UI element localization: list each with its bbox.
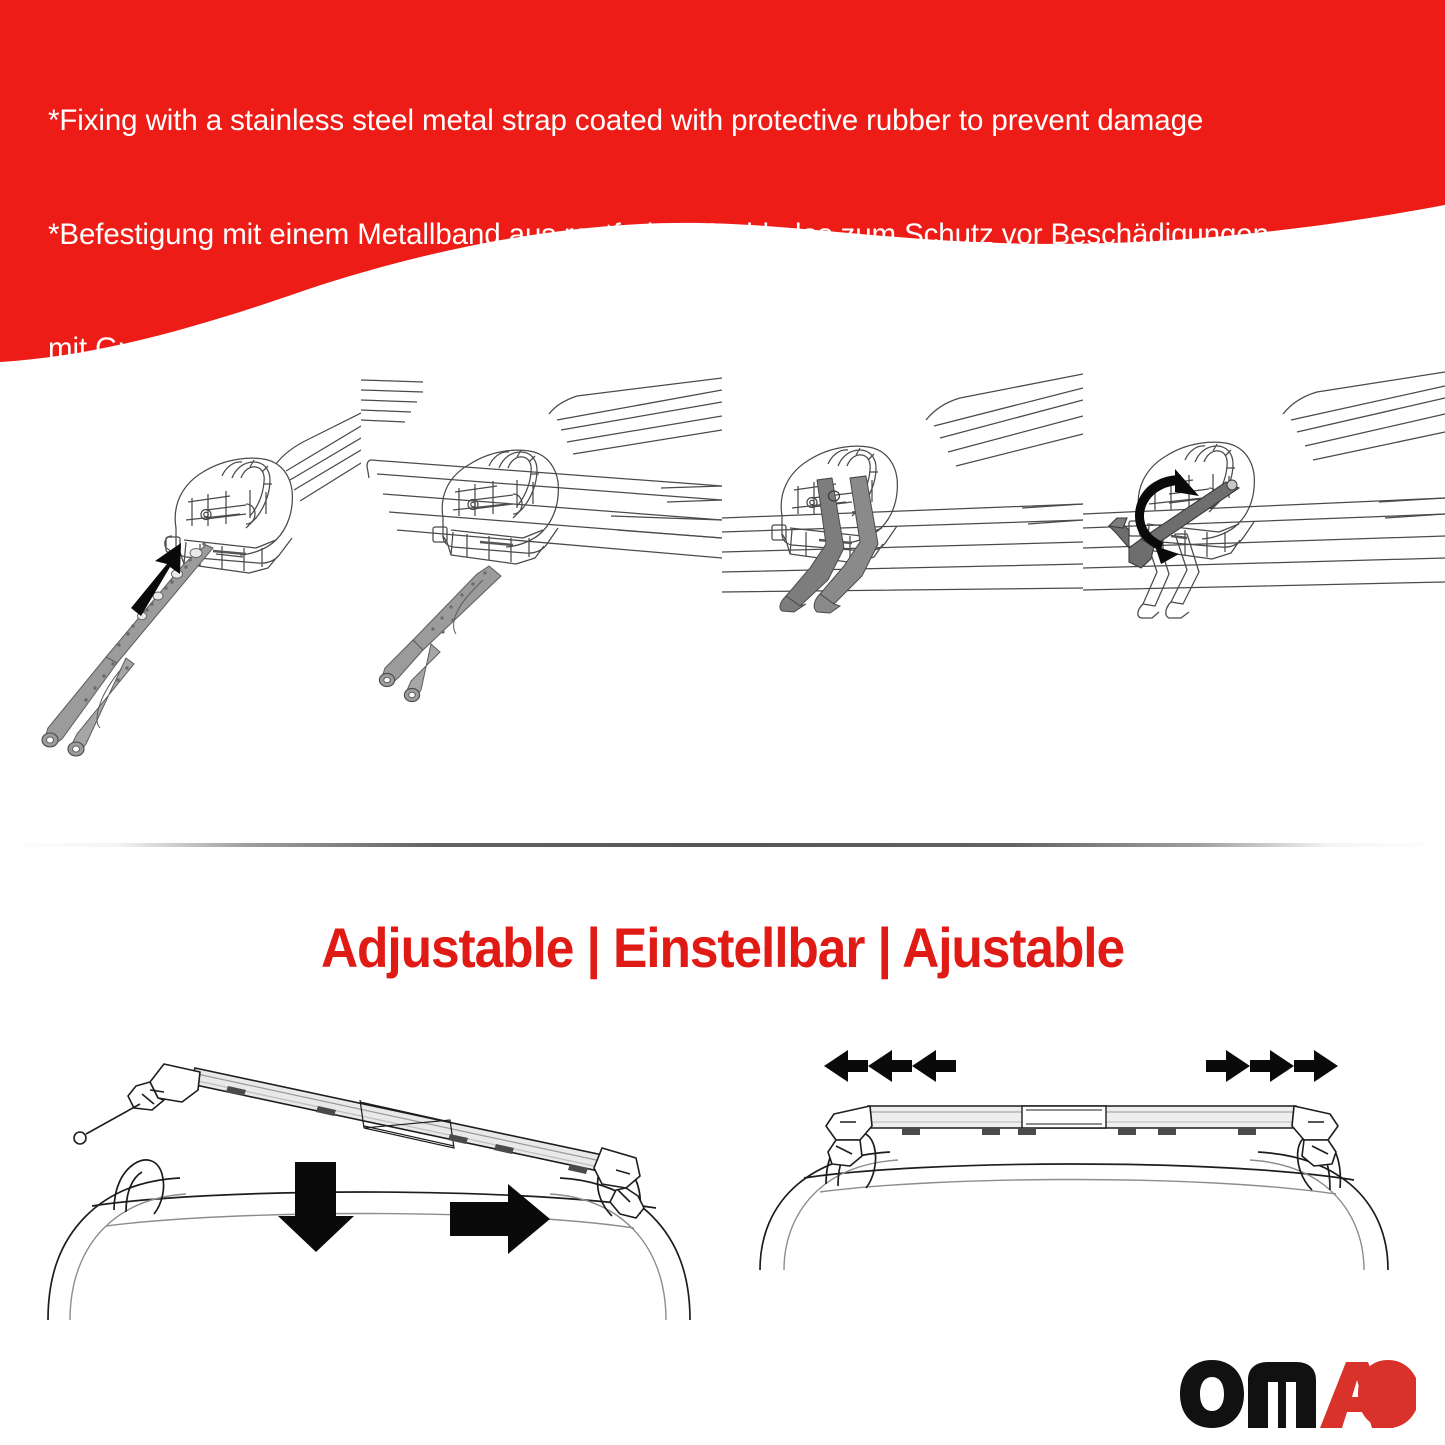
height-slide-illustration bbox=[30, 1030, 730, 1320]
step-2-foot-on-rail bbox=[361, 368, 722, 818]
installation-steps bbox=[0, 368, 1445, 818]
step-4-illustration bbox=[1083, 368, 1445, 818]
section-divider bbox=[0, 843, 1445, 847]
step-1-illustration bbox=[0, 368, 361, 818]
header-banner: *Fixing with a stainless steel metal str… bbox=[0, 0, 1445, 370]
step-4-tighten-allen-key bbox=[1083, 368, 1444, 818]
step-1-insert-strap bbox=[0, 368, 361, 818]
metal-strap-3 bbox=[780, 476, 878, 613]
arrow-down-icon bbox=[278, 1162, 354, 1252]
omac-logo-mark bbox=[1178, 1358, 1418, 1430]
step-3-strap-around-rail bbox=[722, 368, 1083, 818]
banner-line-en-1: *Fixing with a stainless steel metal str… bbox=[48, 102, 1418, 140]
step-3-illustration bbox=[722, 368, 1083, 818]
panel-width-adjustment bbox=[740, 1030, 1420, 1320]
triple-arrow-left-icon bbox=[824, 1050, 956, 1082]
adjustable-headline: Adjustable | Einstellbar | Ajustable bbox=[58, 915, 1387, 980]
adjustment-illustrations bbox=[0, 1030, 1445, 1320]
banner-line-de-2: mit Gummi überzogen ist bbox=[48, 330, 1418, 368]
metal-strap-1 bbox=[42, 542, 213, 756]
product-infographic: *Fixing with a stainless steel metal str… bbox=[0, 0, 1445, 1445]
triple-arrow-right-icon bbox=[1206, 1050, 1338, 1082]
metal-strap-2 bbox=[379, 566, 501, 702]
width-adjustment-illustration bbox=[740, 1030, 1420, 1320]
banner-line-de-1: *Befestigung mit einem Metallband aus ro… bbox=[48, 216, 1418, 254]
step-2-illustration bbox=[361, 368, 722, 818]
omac-logo bbox=[1178, 1358, 1418, 1430]
panel-height-slide-adjustment bbox=[30, 1030, 730, 1320]
